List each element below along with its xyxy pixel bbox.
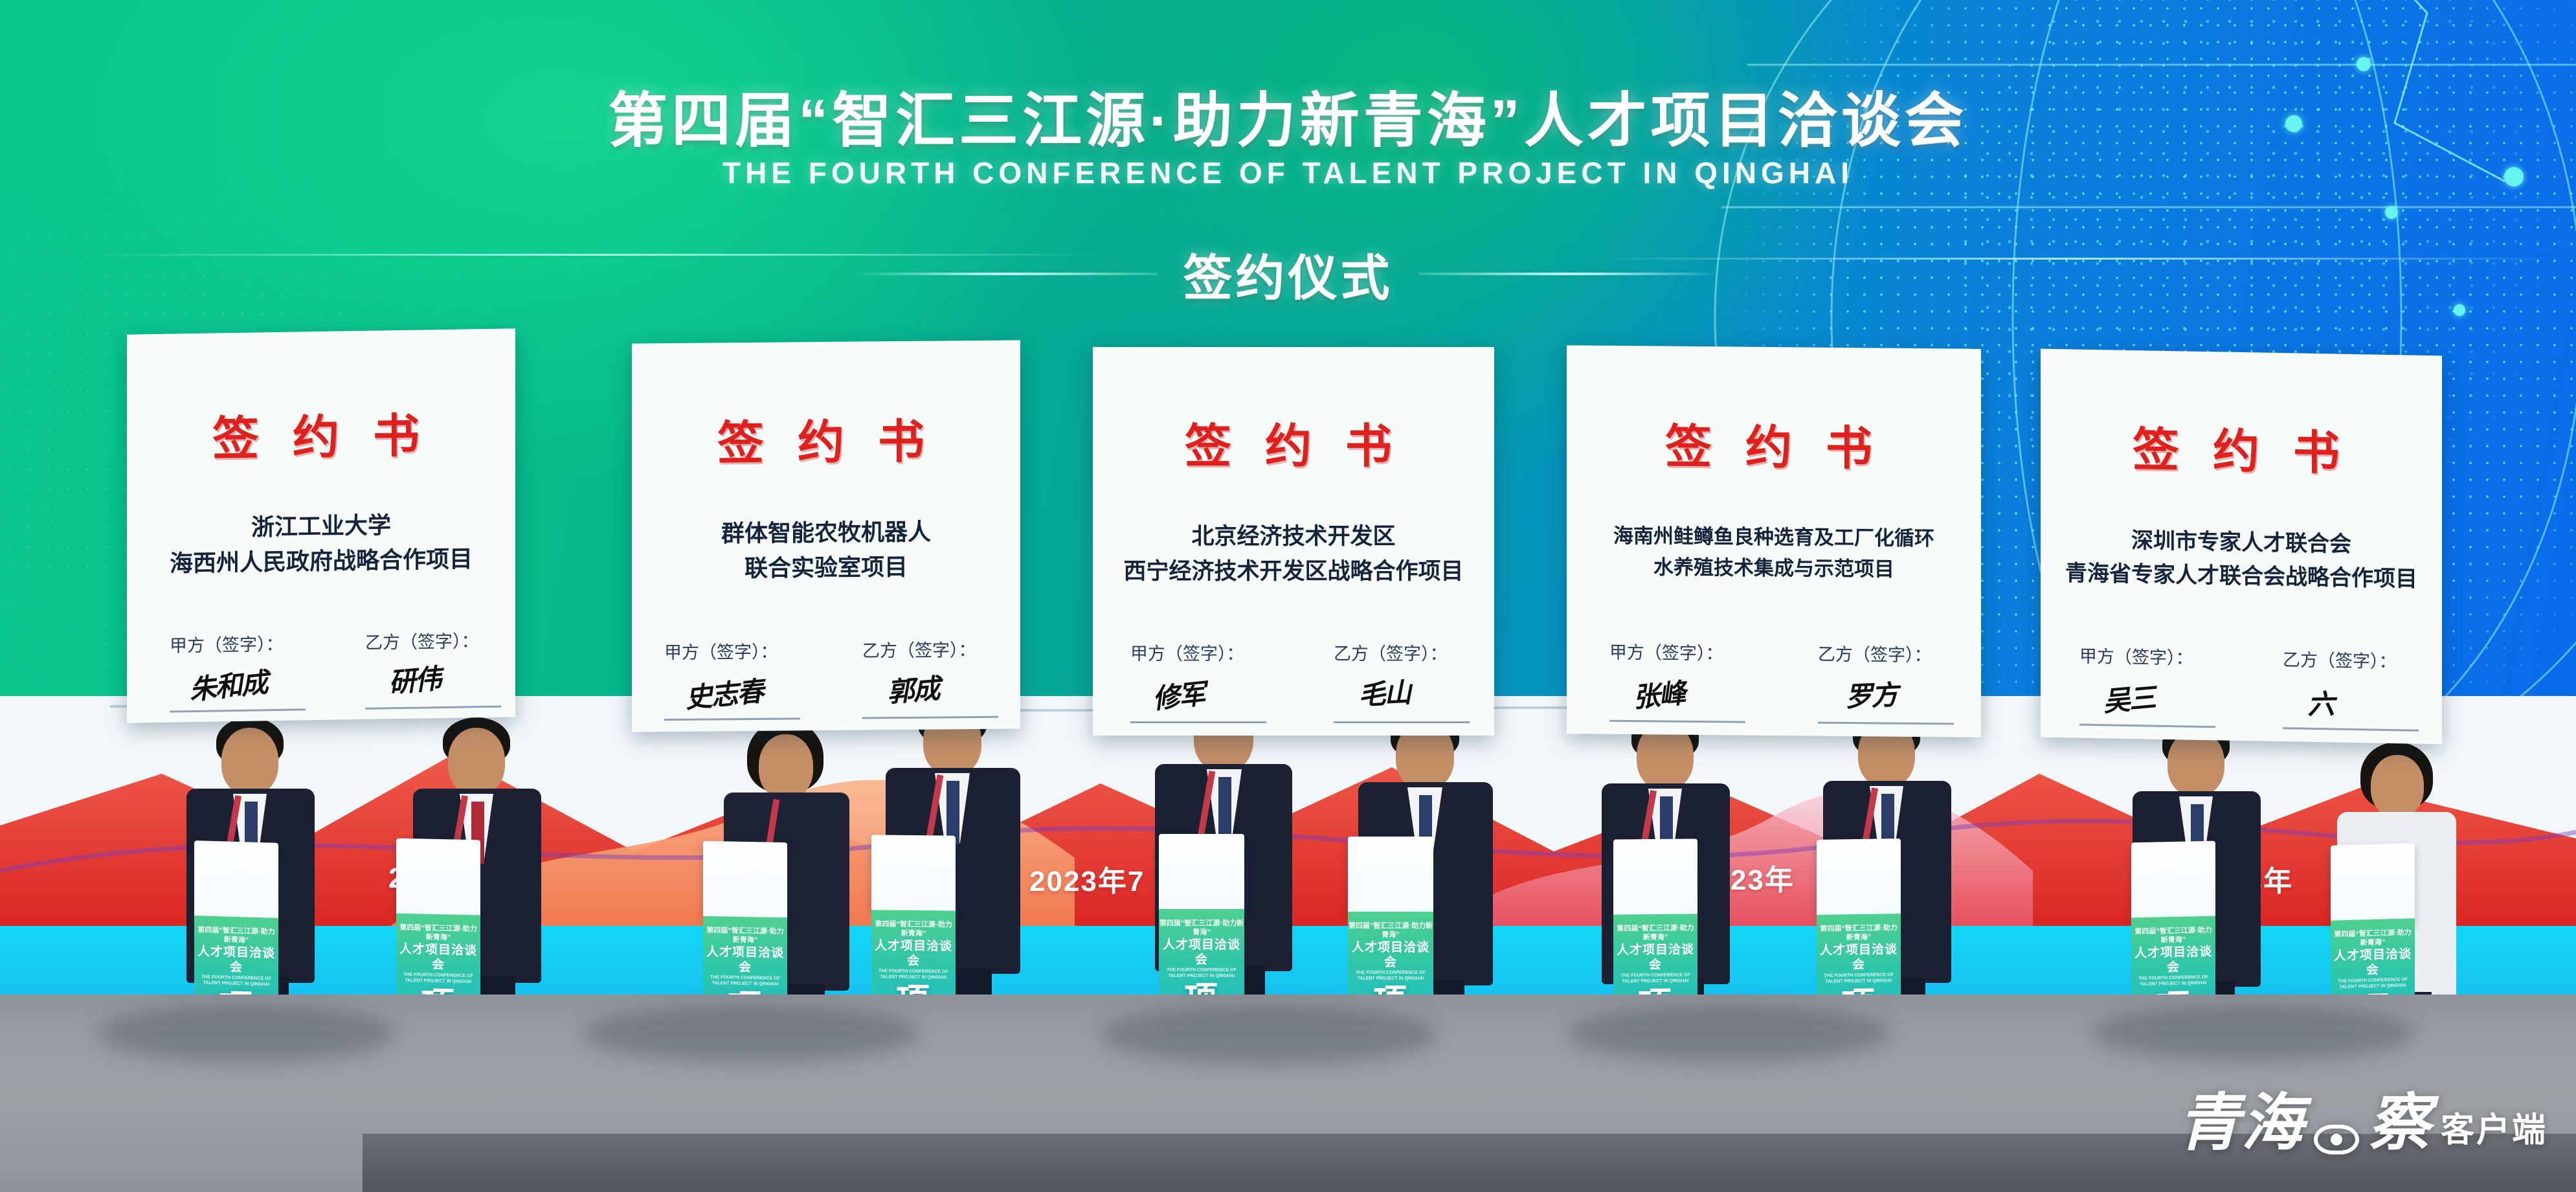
podium-desktop xyxy=(194,840,278,921)
party-b-label: 乙方（签字）： xyxy=(365,627,479,654)
signature-a: 修军 xyxy=(1150,672,1206,717)
podium-header: 第四届“智汇三江源·助力新青海” 人才项目洽谈会 THE FOURTH CONF… xyxy=(1817,924,1901,985)
signature-b: 毛山 xyxy=(1357,671,1411,713)
signature-b: 六 xyxy=(2307,682,2334,723)
network-node-icon xyxy=(2385,206,2398,219)
photo-scene: 第四届“智汇三江源·助力新青海”人才项目洽谈会 THE FOURTH CONFE… xyxy=(0,0,2576,1192)
board-line-1: 群体智能农牧机器人 xyxy=(632,512,1020,549)
page-title: 第四届“智汇三江源·助力新青海”人才项目洽谈会 xyxy=(0,73,2576,159)
signature-b: 研伟 xyxy=(387,657,442,701)
board-line-2: 海西州人民政府战略合作项目 xyxy=(127,539,515,579)
party-a-label: 甲方（签字）： xyxy=(664,638,778,664)
podium-desktop xyxy=(2331,843,2415,923)
year-label: 2023年7 xyxy=(1029,858,1145,899)
podium-desktop xyxy=(871,835,956,913)
podium-header: 第四届“智汇三江源·助力新青海” 人才项目洽谈会 THE FOURTH CONF… xyxy=(194,926,278,988)
podium-header-micro: 第四届“智汇三江源·助力新青海” xyxy=(1159,919,1244,938)
board-line-1: 浙江工业大学 xyxy=(127,504,515,544)
board-line-1: 海南州鲑鳟鱼良种选育及工厂化循环 xyxy=(1567,519,1981,552)
podium-header-micro: 第四届“智汇三江源·助力新青海” xyxy=(703,927,787,946)
podium-header-cn: 人才项目洽谈会 xyxy=(1159,938,1244,969)
subtitle-rule-left xyxy=(853,273,1158,275)
podium-header: 第四届“智汇三江源·助力新青海” 人才项目洽谈会 THE FOURTH CONF… xyxy=(1348,922,1433,982)
signing-board: 签 约 书 群体智能农牧机器人 联合实验室项目 甲方（签字）： 乙方（签字）： … xyxy=(632,340,1020,732)
network-node-icon xyxy=(2357,57,2371,71)
podium-desktop xyxy=(1348,837,1433,914)
signature-a: 吴三 xyxy=(2101,676,2156,720)
podium-header-en: THE FOURTH CONFERENCE OF TALENT PROJECT … xyxy=(396,973,480,985)
signature-b: 郭成 xyxy=(886,667,940,710)
podium-desktop xyxy=(1817,838,1901,917)
watermark-app-label: 客户端 xyxy=(2441,1107,2548,1154)
podium-desktop xyxy=(1159,834,1244,912)
podium-desktop xyxy=(396,838,480,918)
podium-header-micro: 第四届“智汇三江源·助力新青海” xyxy=(2331,928,2415,949)
signature-a: 张峰 xyxy=(1631,671,1686,715)
party-b-label: 乙方（签字）： xyxy=(1334,640,1448,665)
watermark-brand-right: 察 xyxy=(2368,1092,2432,1154)
signing-board: 签 约 书 深圳市专家人才联合会 青海省专家人才联合会战略合作项目 甲方（签字）… xyxy=(2041,349,2442,745)
podium-header: 第四届“智汇三江源·助力新青海” 人才项目洽谈会 THE FOURTH CONF… xyxy=(1159,919,1244,980)
party-a-label: 甲方（签字）： xyxy=(1609,638,1723,665)
watermark-brand-left: 青海 xyxy=(2178,1092,2305,1154)
podium-header-en: THE FOURTH CONFERENCE OF TALENT PROJECT … xyxy=(2131,975,2215,988)
podium-header-cn: 人才项目洽谈会 xyxy=(2131,944,2215,976)
eye-icon xyxy=(2314,1125,2359,1154)
podium-header-en: THE FOURTH CONFERENCE OF TALENT PROJECT … xyxy=(1159,968,1244,980)
podium-header-micro: 第四届“智汇三江源·助力新青海” xyxy=(2131,927,2215,946)
subtitle-rule-right xyxy=(1419,273,1723,275)
podium-header-en: THE FOURTH CONFERENCE OF TALENT PROJECT … xyxy=(2331,977,2415,991)
podium-desktop xyxy=(2131,841,2215,921)
board-heading: 签 约 书 xyxy=(1567,407,1981,479)
podium-header-micro: 第四届“智汇三江源·助力新青海” xyxy=(871,920,956,939)
podium-desktop xyxy=(1613,838,1697,917)
podium-header: 第四届“智汇三江源·助力新青海” 人才项目洽谈会 THE FOURTH CONF… xyxy=(871,920,956,981)
podium-header-micro: 第四届“智汇三江源·助力新青海” xyxy=(194,926,278,946)
signing-board: 签 约 书 浙江工业大学 海西州人民政府战略合作项目 甲方（签字）： 乙方（签字… xyxy=(127,328,515,723)
party-a-label: 甲方（签字）： xyxy=(170,630,284,657)
signature-b: 罗方 xyxy=(1844,673,1898,715)
podium-header-en: THE FOURTH CONFERENCE OF TALENT PROJECT … xyxy=(703,975,787,988)
podium-header-cn: 人才项目洽谈会 xyxy=(1348,940,1433,971)
signature-a: 史志春 xyxy=(684,669,765,716)
podium-header-en: THE FOURTH CONFERENCE OF TALENT PROJECT … xyxy=(194,974,278,988)
signature-a: 朱和成 xyxy=(188,660,269,708)
signing-board: 签 约 书 北京经济技术开发区 西宁经济技术开发区战略合作项目 甲方（签字）： … xyxy=(1093,347,1494,736)
podium-header: 第四届“智汇三江源·助力新青海” 人才项目洽谈会 THE FOURTH CONF… xyxy=(396,924,480,985)
podium-header-cn: 人才项目洽谈会 xyxy=(194,944,278,977)
board-line-2: 联合实验室项目 xyxy=(632,547,1020,584)
podium-header-cn: 人才项目洽谈会 xyxy=(1817,942,1901,974)
subtitle: 签约仪式 xyxy=(1183,238,1393,309)
podium-header-cn: 人才项目洽谈会 xyxy=(1613,942,1697,974)
podium-header-micro: 第四届“智汇三江源·助力新青海” xyxy=(1613,924,1697,943)
podium-header: 第四届“智汇三江源·助力新青海” 人才项目洽谈会 THE FOURTH CONF… xyxy=(2131,927,2215,988)
podium-header: 第四届“智汇三江源·助力新青海” 人才项目洽谈会 THE FOURTH CONF… xyxy=(2331,928,2415,991)
board-line-1: 北京经济技术开发区 xyxy=(1093,518,1494,551)
page-title-english: THE FOURTH CONFERENCE OF TALENT PROJECT … xyxy=(0,155,2576,190)
party-a-label: 甲方（签字）： xyxy=(2079,642,2193,669)
board-heading: 签 约 书 xyxy=(2041,410,2442,485)
subtitle-row: 签约仪式 xyxy=(0,238,2576,309)
podium-header-micro: 第四届“智汇三江源·助力新青海” xyxy=(1817,924,1901,943)
board-line-2: 青海省专家人才联合会战略合作项目 xyxy=(2041,555,2442,594)
podium-header-cn: 人才项目洽谈会 xyxy=(396,941,480,974)
board-heading: 签 约 书 xyxy=(127,396,515,469)
party-b-label: 乙方（签字）： xyxy=(2283,646,2397,673)
podium-header: 第四届“智汇三江源·助力新青海” 人才项目洽谈会 THE FOURTH CONF… xyxy=(1613,924,1697,985)
podium-header-cn: 人才项目洽谈会 xyxy=(2331,947,2415,980)
podium-desktop xyxy=(703,841,787,920)
board-line-2: 西宁经济技术开发区战略合作项目 xyxy=(1093,553,1494,586)
podium-header-en: THE FOURTH CONFERENCE OF TALENT PROJECT … xyxy=(871,969,956,981)
board-heading: 签 约 书 xyxy=(632,402,1020,473)
board-heading: 签 约 书 xyxy=(1093,408,1494,476)
podium-header-cn: 人才项目洽谈会 xyxy=(703,944,787,976)
podium-header-micro: 第四届“智汇三江源·助力新青海” xyxy=(396,924,480,943)
board-line-2: 水养殖技术集成与示范项目 xyxy=(1567,550,1981,583)
signing-board: 签 约 书 海南州鲑鳟鱼良种选育及工厂化循环 水养殖技术集成与示范项目 甲方（签… xyxy=(1567,345,1981,737)
party-b-label: 乙方（签字）： xyxy=(862,636,976,662)
board-line-1: 深圳市专家人才联合会 xyxy=(2041,521,2442,560)
podium-header-en: THE FOURTH CONFERENCE OF TALENT PROJECT … xyxy=(1348,971,1433,982)
channel-watermark: 青海 察 客户端 xyxy=(2178,1092,2548,1154)
party-a-label: 甲方（签字）： xyxy=(1130,640,1244,665)
podium-header: 第四届“智汇三江源·助力新青海” 人才项目洽谈会 THE FOURTH CONF… xyxy=(703,927,787,988)
party-b-label: 乙方（签字）： xyxy=(1818,640,1932,667)
podium-header-en: THE FOURTH CONFERENCE OF TALENT PROJECT … xyxy=(1613,973,1697,985)
podium-header-cn: 人才项目洽谈会 xyxy=(871,938,956,970)
podium-header-micro: 第四届“智汇三江源·助力新青海” xyxy=(1348,922,1433,940)
podium-header-en: THE FOURTH CONFERENCE OF TALENT PROJECT … xyxy=(1817,973,1901,985)
